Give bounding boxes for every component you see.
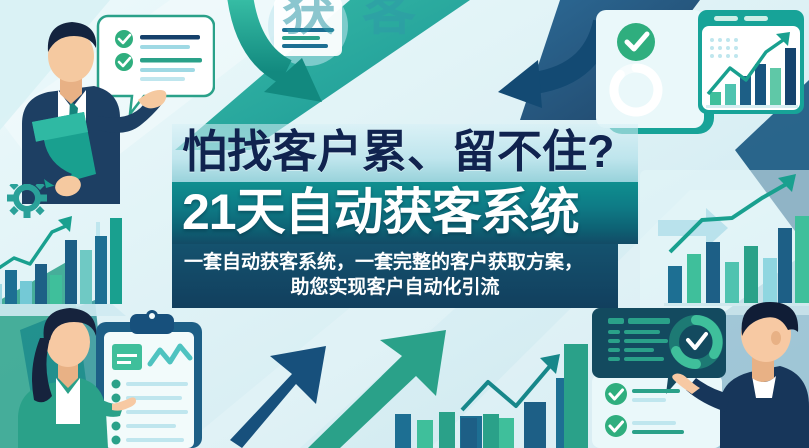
headline-block: 怕找客户累、留不住? 21天自动获客系统 一套自动获客系统，一套完整的客户获取方…	[172, 124, 638, 308]
headline-sub-line-1: 一套自动获客系统，一套完整的客户获取方案，	[184, 250, 606, 275]
headline-band-1: 怕找客户累、留不住?	[172, 124, 638, 182]
illustration-businesswoman-with-clipboard	[0, 296, 240, 448]
arrow-navy-up	[230, 346, 326, 448]
illustration-analytics-dashboard-card	[590, 4, 809, 144]
gear-icon	[7, 184, 47, 218]
headline-band-3: 一套自动获客系统，一套完整的客户获取方案， 助您实现客户自动化引流	[172, 244, 618, 308]
decorative-cutoff-text: 获客	[282, 0, 442, 38]
headline-sub-line-2: 助您实现客户自动化引流	[184, 275, 606, 300]
headline-line-1: 怕找客户累、留不住?	[182, 126, 628, 178]
clipboard	[96, 310, 202, 448]
bottom-bar-strip	[395, 410, 570, 448]
headline-line-2: 21天自动获客系统	[182, 183, 628, 241]
illustration-businessman-back-view-dashboard	[570, 290, 809, 448]
headline-band-2: 21天自动获客系统	[172, 182, 638, 244]
poster-canvas: 获客	[0, 0, 809, 448]
